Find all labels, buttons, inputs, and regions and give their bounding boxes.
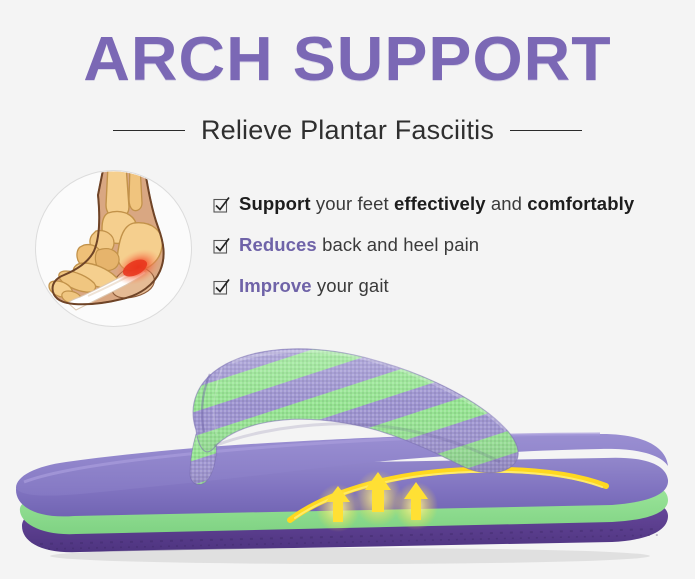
page-title: ARCH SUPPORT <box>0 26 695 94</box>
product-feature-image: ARCH SUPPORT Relieve Plantar Fasciitis <box>0 0 695 579</box>
checkbox-checked-icon <box>213 278 230 295</box>
list-item: Reduces back and heel pain <box>213 234 691 275</box>
benefit-keyword: Reduces <box>239 234 317 255</box>
checkbox-checked-icon <box>213 196 230 213</box>
checkbox-checked-icon <box>213 237 230 254</box>
divider-rule-right <box>510 130 582 131</box>
list-item-label: Support your feet effectively and comfor… <box>239 193 634 215</box>
list-item-label: Improve your gait <box>239 275 389 297</box>
foot-anatomy-illustration <box>35 170 192 327</box>
list-item: Support your feet effectively and comfor… <box>213 193 691 234</box>
benefit-keyword: Improve <box>239 275 312 296</box>
list-item: Improve your gait <box>213 275 691 316</box>
benefit-keyword: Support <box>239 193 311 214</box>
list-item-label: Reduces back and heel pain <box>239 234 479 256</box>
product-image-sandal <box>0 330 695 579</box>
divider-rule-left <box>113 130 185 131</box>
subtitle: Relieve Plantar Fasciitis <box>201 115 494 145</box>
subtitle-row: Relieve Plantar Fasciitis <box>0 113 695 147</box>
benefits-list: Support your feet effectively and comfor… <box>213 193 691 316</box>
